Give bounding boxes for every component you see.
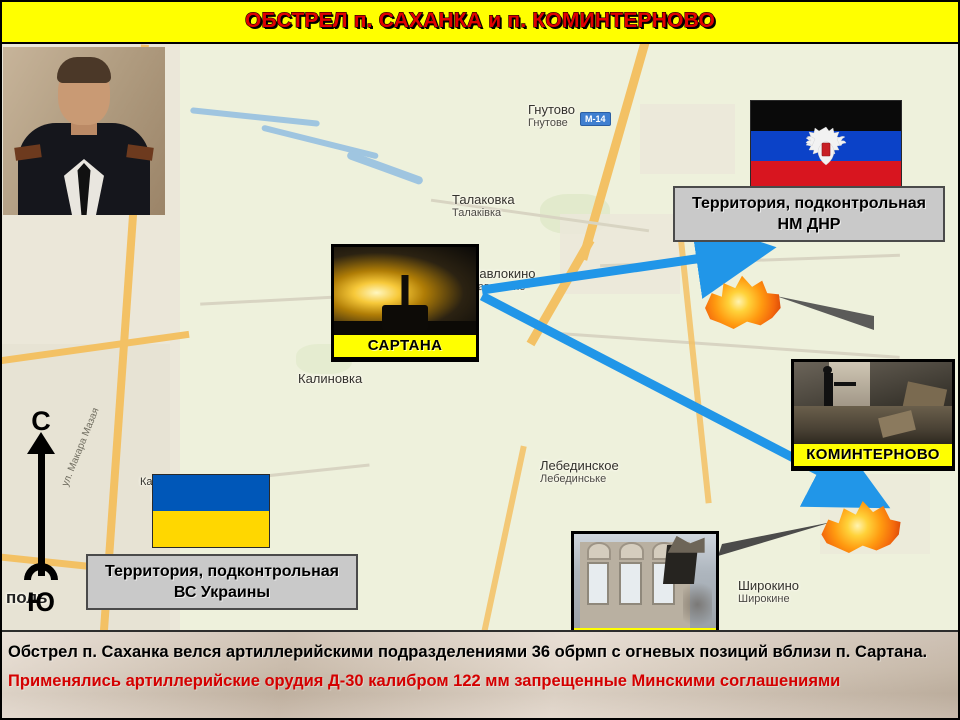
photo-arch-2 [619,542,643,561]
ua-flag-stripe-yellow [153,511,269,547]
map-label-kalinovka: Калиновка [298,371,362,386]
compass-arc [24,563,58,580]
photo-arch-1 [587,542,611,561]
explosion-blob [700,272,784,334]
photo-gun-barrel [402,275,409,309]
compass-south-label: Ю [16,587,66,618]
photo-rubble-pile [794,406,952,444]
legend-dnr-line2: НМ ДНР [778,214,841,235]
map-label-shirokino: Широкино Широкине [738,578,799,605]
explosion-marker-sakhanka [818,496,904,558]
map-label-lebedinskoe: Лебединское Лебединське [540,458,619,485]
officer-photo [3,47,165,215]
photo-lit-wall [829,362,870,413]
highway-shield-m14: M-14 [580,112,611,126]
photo-window-2 [619,562,642,605]
photo-destroyed-interior [794,362,952,444]
map-label-talakovka: Талаковка Талаківка [452,192,515,219]
bottom-caption-bar: Обстрел п. Саханка велся артиллерийскими… [0,630,960,720]
infographic-page: ОБСТРЕЛ п. САХАНКА и п. КОМИНТЕРНОВО M-1 [0,0,960,720]
photo-shelled-building [574,534,716,628]
map-settlement-gnutovo [640,104,735,174]
compass-rose: С Ю [16,410,66,610]
officer-hair [57,57,111,83]
double-headed-eagle-icon [802,123,850,169]
photo-artillery-firing [334,247,476,335]
map-label-pavlokino: Павлокино Павлокине [470,266,536,293]
title-bar: ОБСТРЕЛ п. САХАНКА и п. КОМИНТЕРНОВО [0,0,960,44]
explosion-marker-kominternovo [700,272,784,334]
photo-window-1 [587,562,610,605]
map-canvas[interactable]: M-14 Гнутово Гнутове Талаковка Талаківка… [0,42,960,632]
photo-card-kominternovo[interactable]: КОМИНТЕРНОВО [791,359,955,471]
photo-caption-sartana: САРТАНА [334,335,476,357]
page-title: ОБСТРЕЛ п. САХАНКА и п. КОМИНТЕРНОВО [245,9,715,33]
photo-caption-kominternovo: КОМИНТЕРНОВО [794,444,952,466]
map-label-gnutovo: Гнутово Гнутове [528,102,575,129]
photo-card-sakhanka[interactable]: САХАНКА [571,531,719,632]
photo-card-sartana[interactable]: САРТАНА [331,244,479,362]
photo-person-arm [834,382,856,386]
legend-ukraine-territory: Территория, подконтрольная ВС Украины [86,554,358,610]
photo-person-silhouette [824,373,833,407]
legend-dnr-territory: Территория, подконтрольная НМ ДНР [673,186,945,242]
legend-ua-line2: ВС Украины [174,582,270,603]
photo-gun-body [382,305,428,331]
compass-arrow-shaft [38,448,45,576]
caption-text: Обстрел п. Саханка велся артиллерийскими… [8,638,954,696]
ukraine-flag [152,474,270,548]
photo-roof-damage [668,536,705,553]
photo-bare-tree [683,572,711,627]
caption-red-part: Применялись артиллерийские орудия Д-30 к… [8,672,840,690]
legend-ua-line1: Территория, подконтрольная [105,561,339,582]
legend-dnr-line1: Территория, подконтрольная [692,193,926,214]
dnr-flag [750,100,902,192]
explosion-blob [818,496,904,558]
ua-flag-stripe-blue [153,475,269,511]
caption-black-part: Обстрел п. Саханка велся артиллерийскими… [8,643,927,661]
